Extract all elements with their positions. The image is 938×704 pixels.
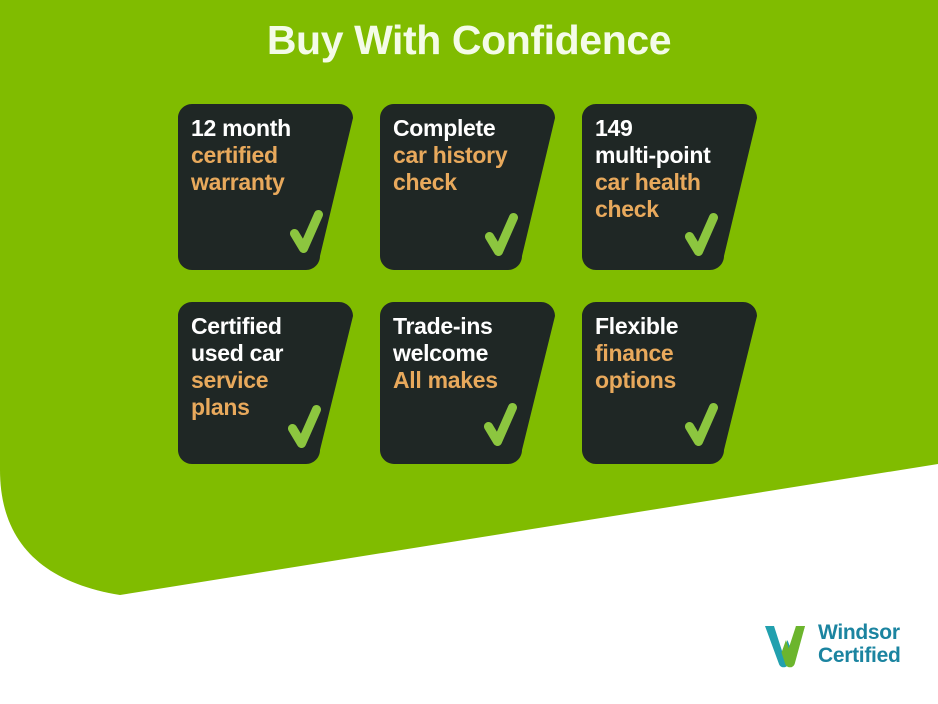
check-icon	[288, 404, 324, 450]
card-line-white: used car	[191, 340, 337, 367]
check-icon	[685, 212, 721, 258]
card-text: 12 month certified warranty	[191, 115, 337, 196]
card-line-orange: finance	[595, 340, 741, 367]
check-icon	[485, 212, 521, 258]
feature-card-multi-point-health-check[interactable]: 149 multi-point car health check	[582, 104, 757, 270]
check-icon	[290, 209, 326, 255]
feature-card-trade-ins[interactable]: Trade-ins welcome All makes	[380, 302, 555, 464]
card-line-orange: warranty	[191, 169, 337, 196]
feature-card-car-history-check[interactable]: Complete car history check	[380, 104, 555, 270]
card-text: Trade-ins welcome All makes	[393, 313, 539, 394]
card-row-2: Certified used car service plans	[178, 302, 758, 464]
logo-wordmark: Windsor Certified	[818, 622, 900, 667]
card-text: 149 multi-point car health check	[595, 115, 741, 223]
feature-card-service-plans[interactable]: Certified used car service plans	[178, 302, 353, 464]
card-line-white: 149	[595, 115, 741, 142]
card-text: Complete car history check	[393, 115, 539, 196]
windsor-w-icon	[761, 622, 809, 668]
feature-card-flexible-finance[interactable]: Flexible finance options	[582, 302, 757, 464]
card-line-orange: options	[595, 367, 741, 394]
card-line-white: Complete	[393, 115, 539, 142]
card-row-1: 12 month certified warranty	[178, 104, 758, 270]
card-line-white: multi-point	[595, 142, 741, 169]
card-line-orange: car health	[595, 169, 741, 196]
logo-line-certified: Certified	[818, 645, 900, 668]
check-icon	[685, 402, 721, 448]
card-line-white: Certified	[191, 313, 337, 340]
windsor-certified-logo[interactable]: Windsor Certified	[761, 622, 900, 668]
card-line-white: welcome	[393, 340, 539, 367]
card-line-orange: certified	[191, 142, 337, 169]
card-line-orange: car history	[393, 142, 539, 169]
card-line-orange: check	[393, 169, 539, 196]
card-text: Flexible finance options	[595, 313, 741, 394]
card-line-white: Flexible	[595, 313, 741, 340]
card-line-orange: service	[191, 367, 337, 394]
card-line-white: Trade-ins	[393, 313, 539, 340]
buy-with-confidence-poster: Buy With Confidence 12 month certified w…	[0, 0, 938, 704]
feature-card-certified-warranty[interactable]: 12 month certified warranty	[178, 104, 353, 270]
card-line-orange: All makes	[393, 367, 539, 394]
logo-line-windsor: Windsor	[818, 622, 900, 645]
page-title: Buy With Confidence	[0, 18, 938, 63]
check-icon	[484, 402, 520, 448]
card-line-white: 12 month	[191, 115, 337, 142]
feature-card-grid: 12 month certified warranty	[178, 104, 758, 464]
